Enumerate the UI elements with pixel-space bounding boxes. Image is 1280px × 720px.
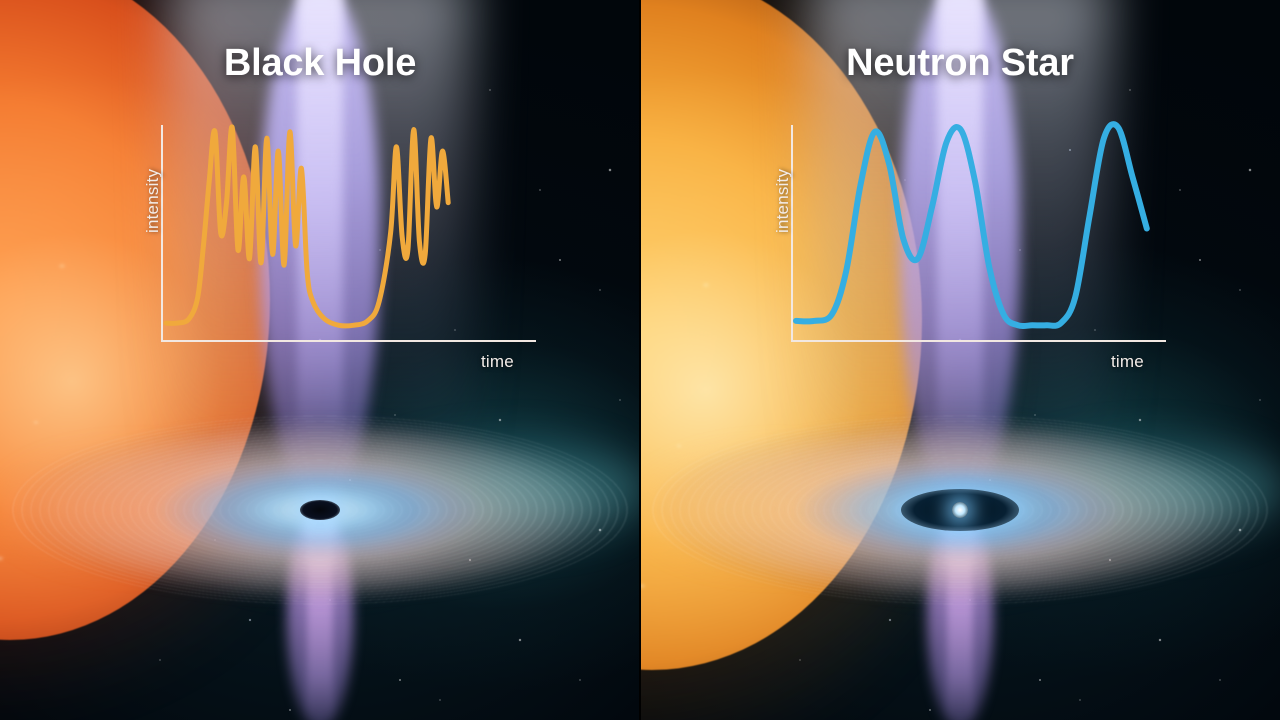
panel-neutron-star: Neutron Star intensity time <box>640 0 1280 720</box>
accretion-disk <box>10 415 630 605</box>
comparison-figure: Black Hole intensity time <box>0 0 1280 720</box>
page-title-black-hole: Black Hole <box>0 42 640 85</box>
panel-black-hole: Black Hole intensity time <box>0 0 640 720</box>
neutron-star-point-icon <box>901 489 1019 531</box>
panel-divider <box>639 0 641 720</box>
accretion-disk <box>650 415 1270 605</box>
black-hole-shadow-icon <box>300 500 340 520</box>
page-title-neutron-star: Neutron Star <box>640 42 1280 85</box>
